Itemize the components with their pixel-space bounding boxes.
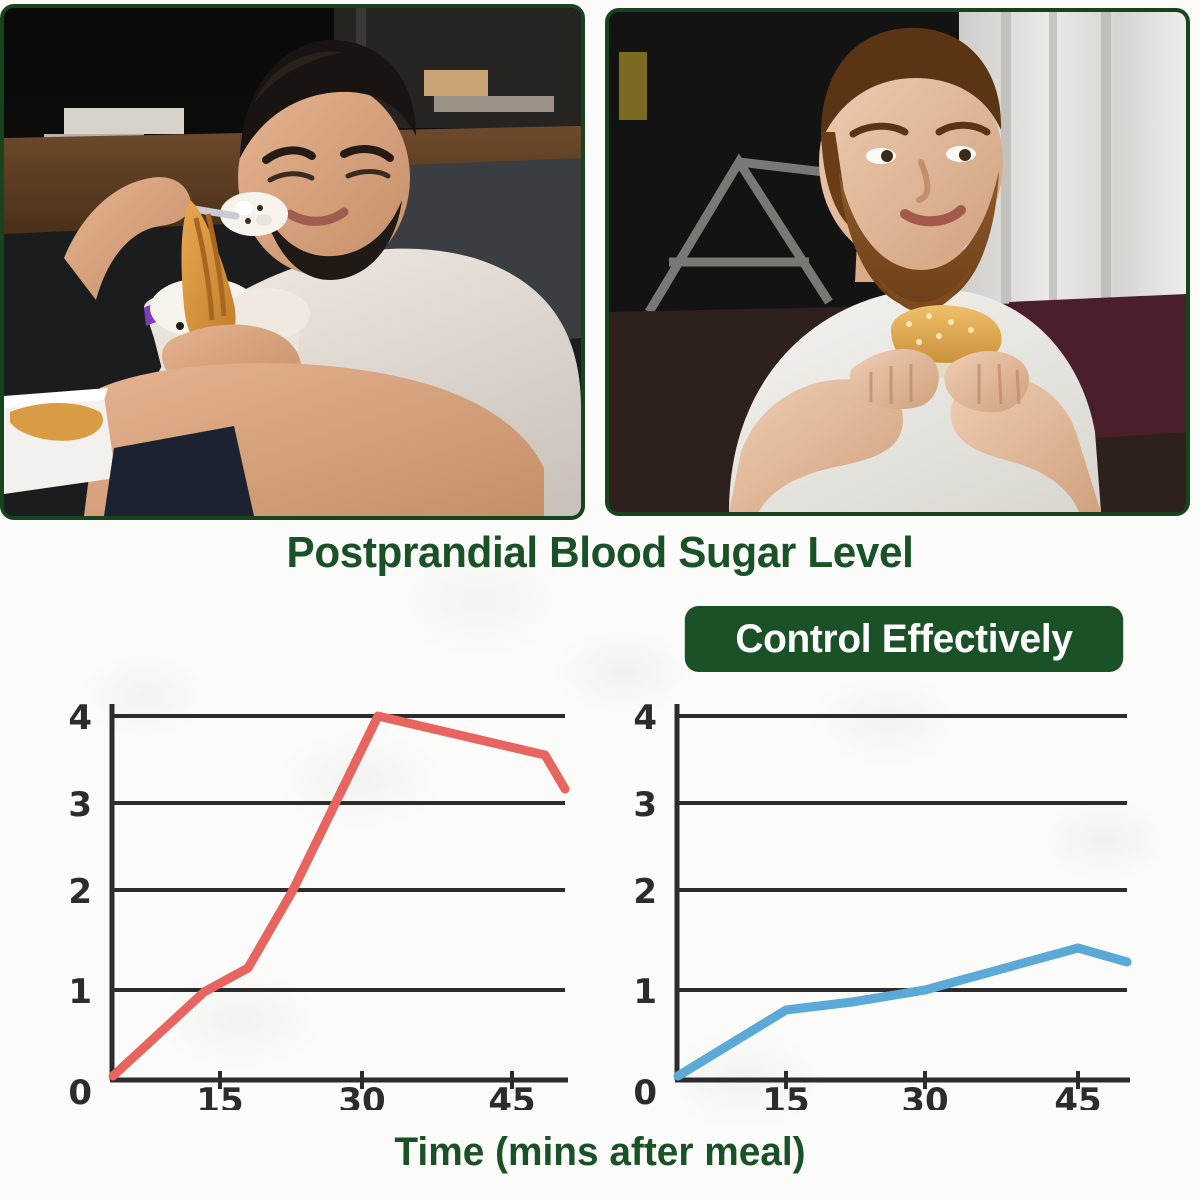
control-effectively-badge: Control Effectively bbox=[685, 606, 1123, 672]
xtick-45: 45 bbox=[1054, 1081, 1101, 1110]
series-line-spike bbox=[113, 716, 565, 1076]
photo-right-illustration bbox=[609, 12, 1186, 512]
ytick-2: 2 bbox=[633, 872, 657, 912]
chart-after-container: 4 3 2 1 0 15 30 45 bbox=[600, 690, 1200, 1110]
ytick-1: 1 bbox=[68, 972, 92, 1012]
chart-after-ytick-labels: 4 3 2 1 0 bbox=[633, 698, 657, 1110]
photo-left-illustration bbox=[4, 8, 581, 516]
photo-left bbox=[0, 4, 585, 520]
xtick-30: 30 bbox=[901, 1081, 948, 1110]
photo-right bbox=[605, 8, 1190, 516]
x-axis-caption: Time (mins after meal) bbox=[18, 1130, 1182, 1175]
ytick-2: 2 bbox=[68, 872, 92, 912]
chart-before-axes bbox=[110, 704, 568, 1089]
page-title: Postprandial Blood Sugar Level bbox=[24, 528, 1176, 578]
chart-before: 4 3 2 1 0 15 30 45 bbox=[0, 690, 600, 1110]
series-line-controlled bbox=[678, 948, 1127, 1076]
ytick-1: 1 bbox=[633, 972, 657, 1012]
ytick-0: 0 bbox=[68, 1073, 92, 1110]
xtick-45: 45 bbox=[488, 1081, 535, 1110]
chart-before-ytick-labels: 4 3 2 1 0 bbox=[68, 698, 92, 1110]
chart-after-xtick-labels: 15 30 45 bbox=[762, 1081, 1101, 1110]
xtick-15: 15 bbox=[196, 1081, 243, 1110]
ytick-0: 0 bbox=[633, 1073, 657, 1110]
ytick-3: 3 bbox=[633, 785, 657, 825]
chart-before-xtick-labels: 15 30 45 bbox=[196, 1081, 535, 1110]
xtick-30: 30 bbox=[338, 1081, 385, 1110]
ytick-4: 4 bbox=[633, 698, 657, 738]
xtick-15: 15 bbox=[762, 1081, 809, 1110]
chart-before-gridlines bbox=[112, 716, 565, 990]
chart-after: 4 3 2 1 0 15 30 45 bbox=[600, 690, 1200, 1110]
ytick-3: 3 bbox=[68, 785, 92, 825]
ytick-4: 4 bbox=[68, 698, 92, 738]
chart-before-container: 4 3 2 1 0 15 30 45 bbox=[0, 690, 600, 1110]
infographic-sheet: Postprandial Blood Sugar Level Control E… bbox=[0, 0, 1200, 1200]
photo-row bbox=[0, 0, 1200, 516]
